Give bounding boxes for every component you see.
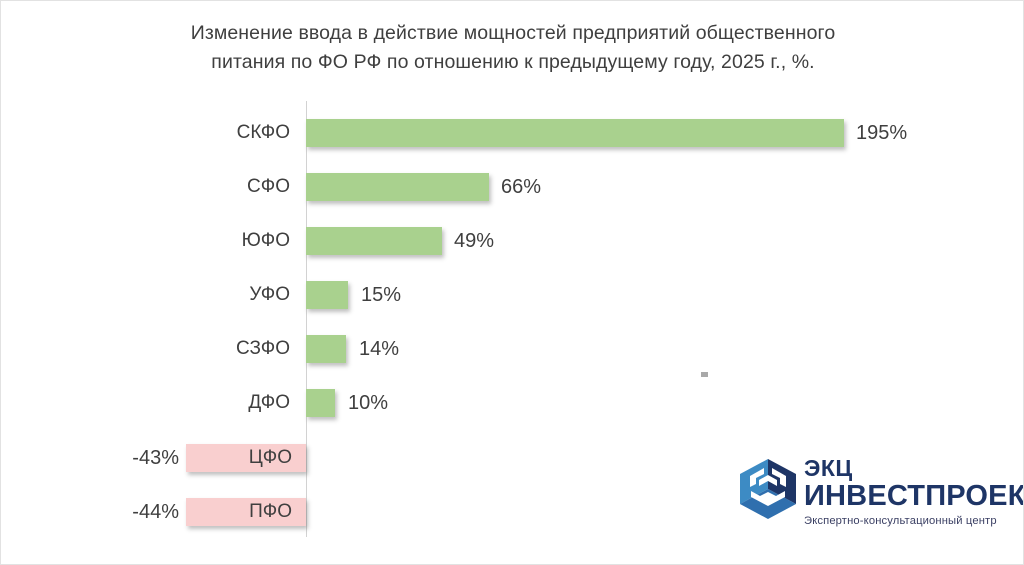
value-label-pfo: -44% — [111, 498, 179, 526]
bar-row: СКФО 195% — [1, 106, 1024, 160]
bar-row: ЮФО 49% — [1, 214, 1024, 268]
bar-row: СФО 66% — [1, 160, 1024, 214]
bar-skfo[interactable] — [306, 119, 844, 147]
value-label-cfo: -43% — [111, 444, 179, 472]
category-label-ufo: УФО — [249, 281, 290, 309]
category-label-szfo: СЗФО — [236, 335, 290, 363]
category-label-skfo: СКФО — [237, 119, 290, 147]
logo-text: ЭКЦ ИНВЕСТПРОЕКТ Экспертно-консультацион… — [804, 456, 1000, 529]
logo: ЭКЦ ИНВЕСТПРОЕКТ Экспертно-консультацион… — [738, 456, 1000, 528]
value-label-szfo: 14% — [359, 335, 399, 363]
bar-dfo[interactable] — [306, 389, 335, 417]
category-label-pfo: ПФО — [186, 498, 306, 526]
bar-szfo[interactable] — [306, 335, 346, 363]
cube-logo-icon — [738, 458, 798, 520]
logo-line-ekc: ЭКЦ — [804, 456, 1000, 481]
cursor-artifact — [701, 372, 708, 377]
logo-tagline: Экспертно-консультационный центр — [804, 513, 1000, 529]
value-label-skfo: 195% — [856, 119, 907, 147]
logo-line-investproekt: ИНВЕСТПРОЕКТ — [804, 481, 1000, 511]
category-label-sfo: СФО — [247, 173, 290, 201]
value-label-dfo: 10% — [348, 389, 388, 417]
bar-row: СЗФО 14% — [1, 322, 1024, 376]
value-label-ufo: 15% — [361, 281, 401, 309]
bar-row: ДФО 10% — [1, 376, 1024, 430]
chart-canvas: Изменение ввода в действие мощностей пре… — [0, 0, 1024, 565]
bar-ufo[interactable] — [306, 281, 348, 309]
bar-yufo[interactable] — [306, 227, 442, 255]
bar-row: УФО 15% — [1, 268, 1024, 322]
bar-sfo[interactable] — [306, 173, 489, 201]
category-label-cfo: ЦФО — [186, 444, 306, 472]
value-label-sfo: 66% — [501, 173, 541, 201]
value-label-yufo: 49% — [454, 227, 494, 255]
category-label-yufo: ЮФО — [242, 227, 290, 255]
category-label-dfo: ДФО — [248, 389, 290, 417]
chart-title: Изменение ввода в действие мощностей пре… — [113, 19, 913, 77]
